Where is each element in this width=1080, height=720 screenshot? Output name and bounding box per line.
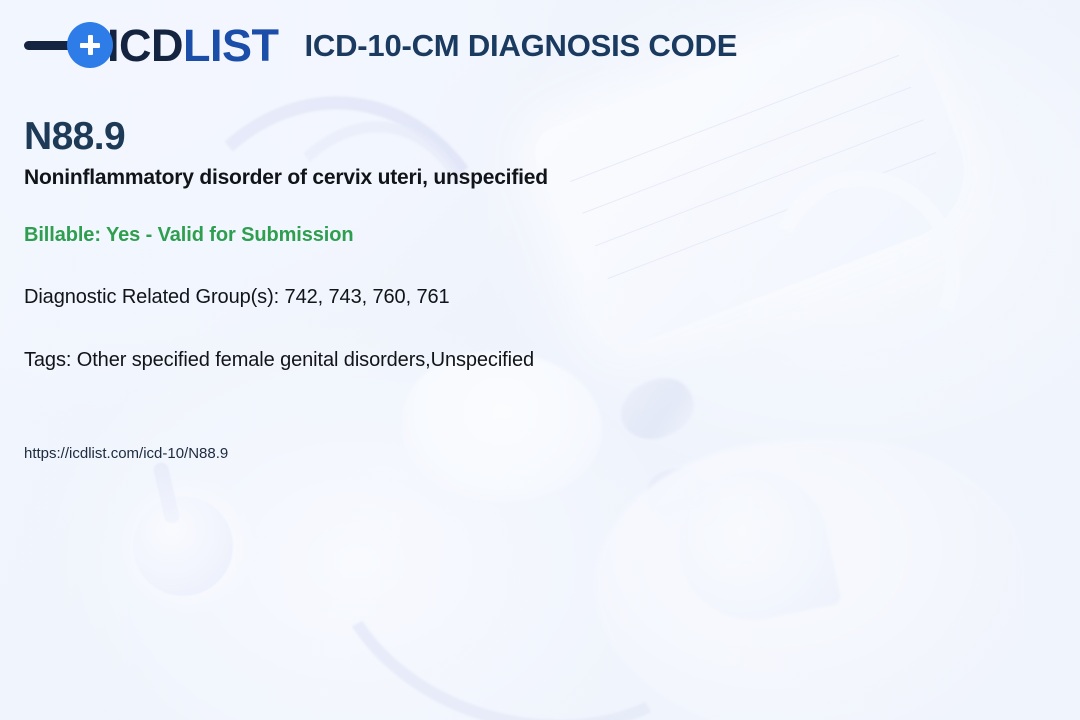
background-highlight-blob (402, 352, 602, 502)
diagnosis-code: N88.9 (24, 115, 125, 159)
logo-text-list: LIST (183, 23, 279, 68)
stethoscope-tube-lower-icon (285, 347, 780, 720)
page-title: ICD-10-CM DIAGNOSIS CODE (305, 30, 738, 61)
drg-list: Diagnostic Related Group(s): 742, 743, 7… (24, 286, 450, 309)
tags-list: Tags: Other specified female genital dis… (24, 349, 534, 372)
icdlist-logo[interactable]: ICD LIST (24, 22, 279, 68)
plus-icon (67, 22, 113, 68)
stethoscope-eartip-secondary-icon (639, 460, 727, 538)
stethoscope-tube-icon (129, 78, 532, 543)
icd-code-card: ICD LIST ICD-10-CM DIAGNOSIS CODE N88.9 … (0, 0, 1080, 720)
logo-text-icd: ICD (107, 23, 183, 68)
background-heart-blob (664, 456, 842, 634)
page-header: ICD LIST ICD-10-CM DIAGNOSIS CODE (24, 22, 737, 68)
surgical-mask-earloop-icon (740, 143, 989, 398)
stethoscope-eartip-icon (611, 367, 703, 452)
diagnosis-description: Noninflammatory disorder of cervix uteri… (24, 166, 548, 190)
source-url[interactable]: https://icdlist.com/icd-10/N88.9 (24, 445, 228, 462)
billable-status: Billable: Yes - Valid for Submission (24, 224, 353, 247)
background-hand-blob (596, 440, 1026, 720)
stethoscope-chestpiece-icon (133, 496, 233, 596)
